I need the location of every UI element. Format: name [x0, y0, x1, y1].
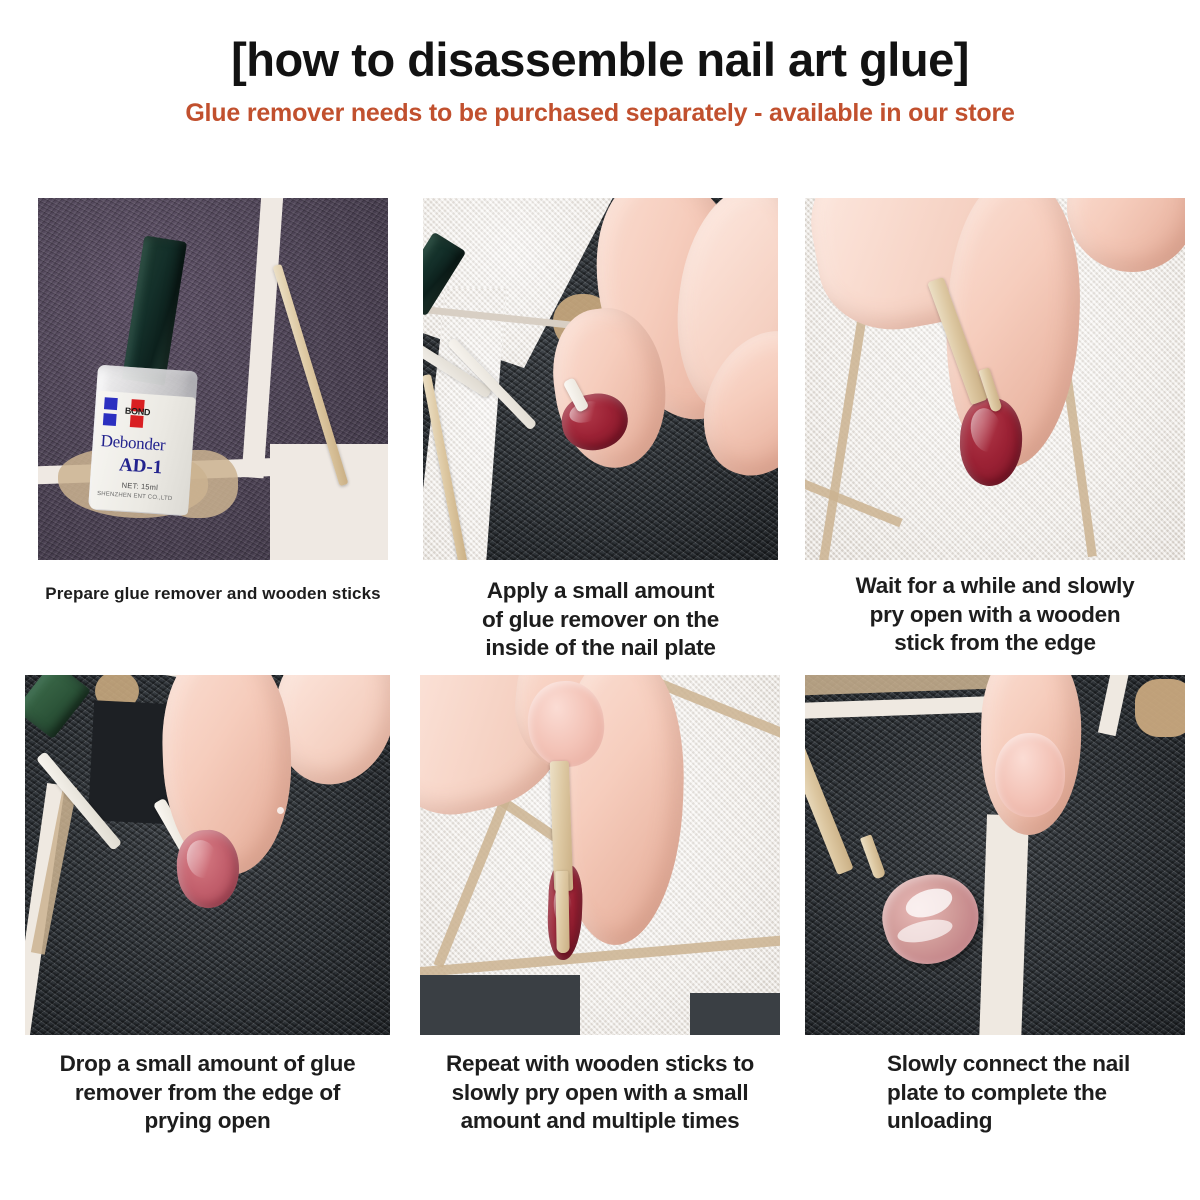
- step-caption-5: Repeat with wooden sticks to slowly pry …: [420, 1050, 780, 1136]
- step-card-1: BOND Debonder AD-1 NET: 15ml SHENZHEN EN…: [38, 198, 388, 605]
- steps-row-top: BOND Debonder AD-1 NET: 15ml SHENZHEN EN…: [0, 198, 1200, 658]
- header: [how to disassemble nail art glue] Glue …: [0, 0, 1200, 127]
- step-card-6: Slowly connect the nail plate to complet…: [805, 675, 1185, 1136]
- liquid-droplet: [277, 807, 284, 814]
- dark-panel: [420, 975, 580, 1035]
- step-card-4: Drop a small amount of glue remover from…: [25, 675, 390, 1136]
- steps-row-bottom: Drop a small amount of glue remover from…: [0, 675, 1200, 1145]
- step-card-3: Wait for a while and slowly pry open wit…: [805, 198, 1185, 658]
- wooden-stick-tip: [555, 871, 569, 953]
- steps-grid: BOND Debonder AD-1 NET: 15ml SHENZHEN EN…: [0, 198, 1200, 1145]
- product-model: AD-1: [118, 454, 163, 479]
- logo-blue-square: [103, 413, 117, 426]
- infographic-page: [how to disassemble nail art glue] Glue …: [0, 0, 1200, 1200]
- page-title: [how to disassemble nail art glue]: [0, 0, 1200, 87]
- step-caption-1: Prepare glue remover and wooden sticks: [38, 583, 388, 605]
- step-photo-4: [25, 675, 390, 1035]
- step-photo-3: [805, 198, 1185, 560]
- product-net-volume: NET: 15ml: [121, 481, 158, 493]
- step-photo-2: [423, 198, 778, 560]
- product-name: Debonder: [100, 431, 166, 455]
- dark-panel: [690, 993, 780, 1035]
- step-card-2: Apply a small amount of glue remover on …: [423, 198, 778, 663]
- natural-nail: [995, 733, 1065, 817]
- step-caption-6: Slowly connect the nail plate to complet…: [887, 1050, 1200, 1136]
- product-company: SHENZHEN ENT CO.,LTD: [97, 491, 173, 502]
- tan-patch: [1135, 679, 1185, 737]
- step-photo-1: BOND Debonder AD-1 NET: 15ml SHENZHEN EN…: [38, 198, 388, 560]
- logo-blue-square: [104, 397, 118, 410]
- step-caption-3: Wait for a while and slowly pry open wit…: [805, 572, 1185, 658]
- step-caption-2: Apply a small amount of glue remover on …: [423, 577, 778, 663]
- seam-stripe: [270, 444, 388, 560]
- step-card-5: Repeat with wooden sticks to slowly pry …: [420, 675, 780, 1136]
- bottle-label: BOND Debonder AD-1 NET: 15ml SHENZHEN EN…: [90, 391, 196, 516]
- step-photo-6: [805, 675, 1185, 1035]
- logo-red-square: [130, 415, 144, 428]
- step-photo-5: [420, 675, 780, 1035]
- brand-name: BOND: [125, 406, 151, 418]
- step-caption-4: Drop a small amount of glue remover from…: [25, 1050, 390, 1136]
- seam-stripe: [979, 814, 1029, 1035]
- page-subtitle: Glue remover needs to be purchased separ…: [0, 87, 1200, 128]
